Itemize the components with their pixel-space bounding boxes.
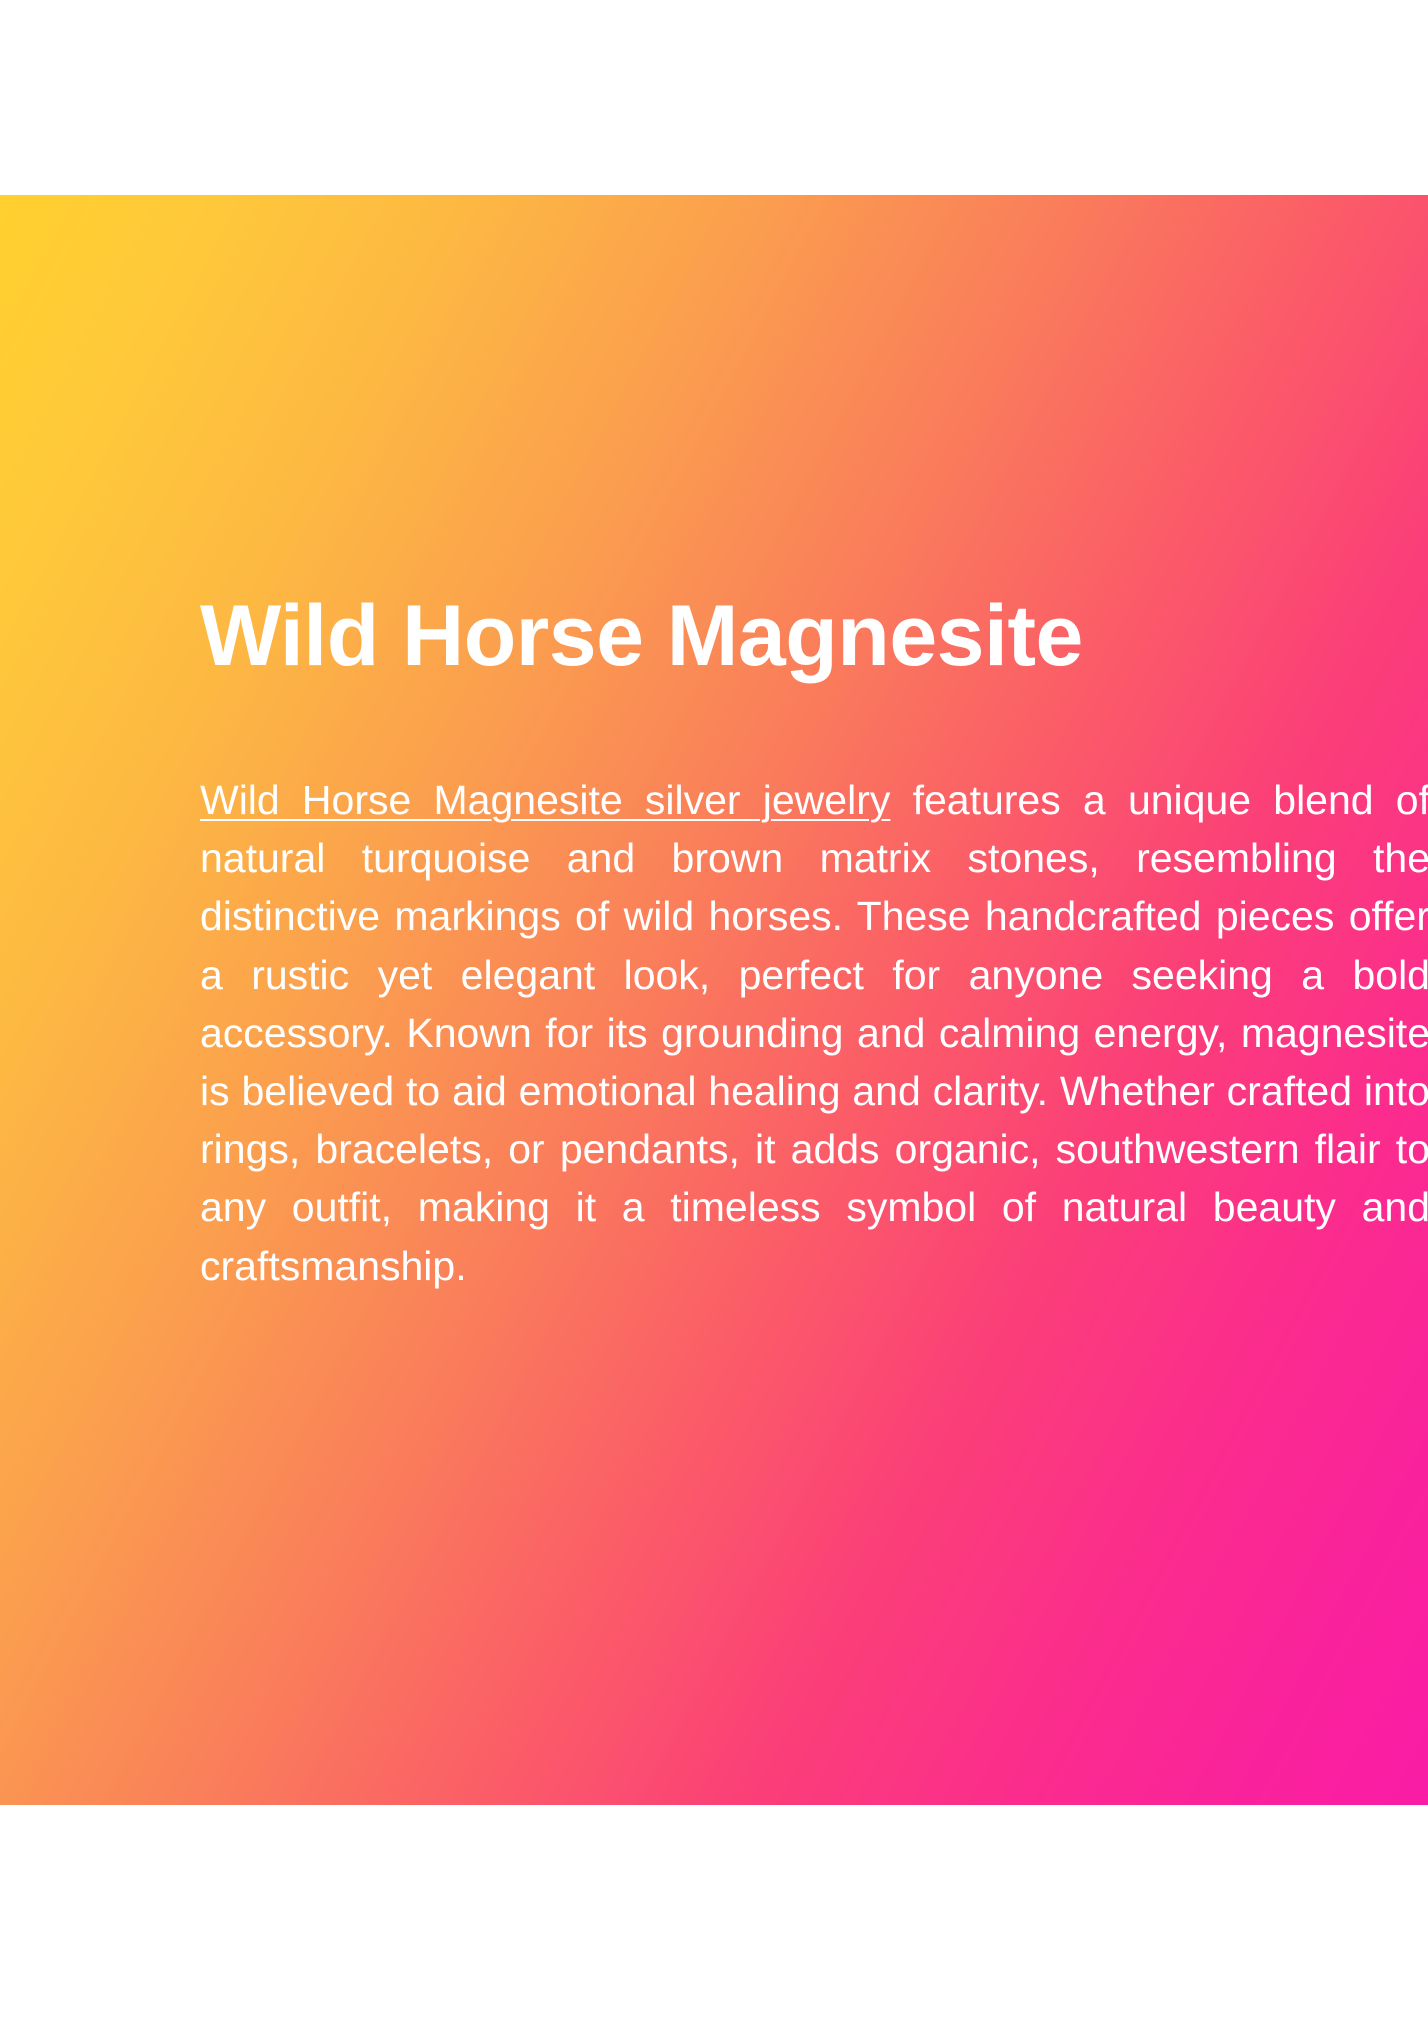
hero-description: Wild Horse Magnesite silver jewelry feat… [200,683,1428,1295]
page-root: Wild Horse Magnesite Wild Horse Magnesit… [0,0,1428,2018]
page-title: Wild Horse Magnesite [200,195,1428,683]
bottom-white-band [0,1805,1428,2018]
hero-content: Wild Horse Magnesite Wild Horse Magnesit… [200,195,1428,1295]
product-link[interactable]: Wild Horse Magnesite silver jewelry [200,777,890,823]
hero-description-text: features a unique blend of natural turqu… [200,777,1428,1289]
gradient-hero-panel: Wild Horse Magnesite Wild Horse Magnesit… [0,195,1428,1805]
top-white-band [0,0,1428,195]
